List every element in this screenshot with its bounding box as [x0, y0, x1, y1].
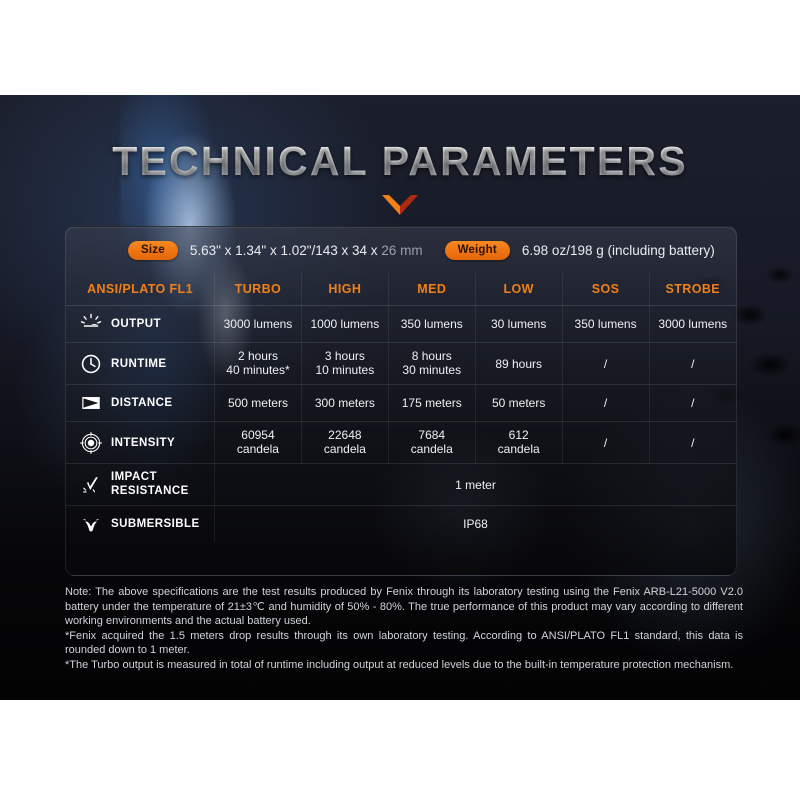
row-label-intensity: INTENSITY [66, 422, 215, 464]
cell-runtime-high: 3 hours 10 minutes [301, 343, 388, 385]
table-header-row: ANSI/PLATO FL1 TURBO HIGH MED LOW SOS ST… [66, 273, 736, 306]
column-header-ansi: ANSI/PLATO FL1 [66, 273, 215, 306]
row-label-distance: DISTANCE [66, 385, 215, 422]
cell-output-turbo: 3000 lumens [215, 306, 302, 343]
table-row: DISTANCE 500 meters 300 meters 175 meter… [66, 385, 736, 422]
cell-intensity-med: 7684 candela [388, 422, 475, 464]
cell-intensity-low: 612 candela [475, 422, 562, 464]
footnote-line-3: *The Turbo output is measured in total o… [65, 658, 743, 673]
target-icon [80, 432, 102, 454]
cell-intensity-high: 22648 candela [301, 422, 388, 464]
cell-runtime-turbo: 2 hours 40 minutes* [215, 343, 302, 385]
row-label-text: OUTPUT [111, 317, 161, 331]
column-header-low: LOW [475, 273, 562, 306]
cell-distance-strobe: / [649, 385, 736, 422]
row-label-submersible: SUBMERSIBLE [66, 506, 215, 543]
footnote: Note: The above specifications are the t… [65, 585, 743, 673]
row-label-text: RUNTIME [111, 357, 167, 371]
cell-distance-med: 175 meters [388, 385, 475, 422]
cell-output-low: 30 lumens [475, 306, 562, 343]
column-header-med: MED [388, 273, 475, 306]
row-label-text: INTENSITY [111, 436, 175, 450]
row-label-text: DISTANCE [111, 396, 173, 410]
cell-runtime-low: 89 hours [475, 343, 562, 385]
table-row: IMPACT RESISTANCE 1 meter [66, 464, 736, 506]
row-label-runtime: RUNTIME [66, 343, 215, 385]
table-body: OUTPUT 3000 lumens 1000 lumens 350 lumen… [66, 306, 736, 543]
cell-output-high: 1000 lumens [301, 306, 388, 343]
cell-submersible-value: IP68 [215, 506, 737, 543]
beam-distance-icon [80, 392, 102, 414]
footnote-line-1: Note: The above specifications are the t… [65, 585, 743, 629]
cell-output-strobe: 3000 lumens [649, 306, 736, 343]
screenshot-root: TECHNICAL PARAMETERS Size 5.63" x 1.34" … [0, 0, 800, 800]
column-header-high: HIGH [301, 273, 388, 306]
water-splash-icon [80, 513, 102, 535]
column-header-strobe: STROBE [649, 273, 736, 306]
cell-runtime-sos: / [562, 343, 649, 385]
cell-output-sos: 350 lumens [562, 306, 649, 343]
weight-badge: Weight [445, 241, 510, 260]
clock-icon [80, 353, 102, 375]
cell-distance-high: 300 meters [301, 385, 388, 422]
cell-impact-resistance-value: 1 meter [215, 464, 737, 506]
footnote-line-2: *Fenix acquired the 1.5 meters drop resu… [65, 629, 743, 658]
size-weight-row: Size 5.63" x 1.34" x 1.02"/143 x 34 x 26… [66, 227, 736, 273]
specs-table: ANSI/PLATO FL1 TURBO HIGH MED LOW SOS ST… [66, 273, 736, 542]
weight-value: 6.98 oz/198 g (including battery) [522, 243, 715, 258]
sunburst-icon [80, 313, 102, 335]
table-row: SUBMERSIBLE IP68 [66, 506, 736, 543]
cell-runtime-strobe: / [649, 343, 736, 385]
table-row: OUTPUT 3000 lumens 1000 lumens 350 lumen… [66, 306, 736, 343]
cell-runtime-med: 8 hours 30 minutes [388, 343, 475, 385]
spec-panel: Size 5.63" x 1.34" x 1.02"/143 x 34 x 26… [65, 226, 737, 576]
cell-distance-turbo: 500 meters [215, 385, 302, 422]
cell-distance-sos: / [562, 385, 649, 422]
column-header-sos: SOS [562, 273, 649, 306]
weight-group: Weight 6.98 oz/198 g (including battery) [445, 241, 715, 260]
column-header-turbo: TURBO [215, 273, 302, 306]
cell-intensity-sos: / [562, 422, 649, 464]
table-row: INTENSITY 60954 candela 22648 candela 76… [66, 422, 736, 464]
table-row: RUNTIME 2 hours 40 minutes* 3 hours 10 m… [66, 343, 736, 385]
size-badge: Size [128, 241, 178, 260]
impact-drop-icon [80, 474, 102, 496]
size-value: 5.63" x 1.34" x 1.02"/143 x 34 x 26 mm [190, 243, 423, 258]
row-label-impact-resistance: IMPACT RESISTANCE [66, 464, 215, 506]
chevron-down-icon [380, 194, 420, 216]
cell-intensity-turbo: 60954 candela [215, 422, 302, 464]
cell-distance-low: 50 meters [475, 385, 562, 422]
row-label-text: SUBMERSIBLE [111, 517, 200, 531]
cell-output-med: 350 lumens [388, 306, 475, 343]
page-title: TECHNICAL PARAMETERS [0, 138, 800, 185]
row-label-text: IMPACT RESISTANCE [111, 471, 189, 498]
cell-intensity-strobe: / [649, 422, 736, 464]
row-label-output: OUTPUT [66, 306, 215, 343]
